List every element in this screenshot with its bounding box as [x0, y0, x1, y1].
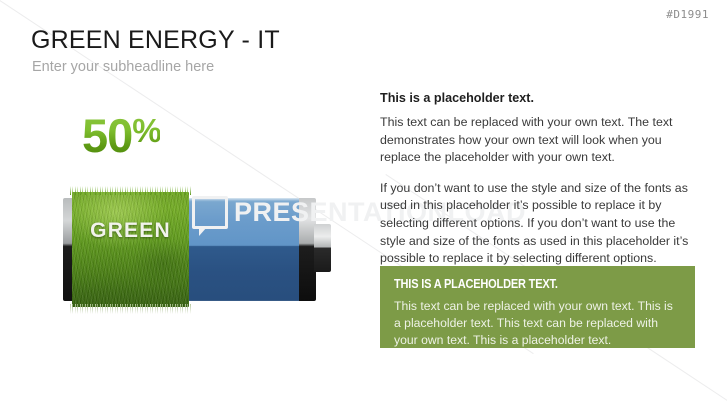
content-column: This is a placeholder text. This text ca… [380, 91, 695, 268]
battery-fill-label: GREEN [72, 219, 189, 243]
charge-percentage-label: 50% [82, 112, 160, 159]
document-id: #D1991 [666, 8, 709, 21]
page-title: GREEN ENERGY - IT [31, 26, 280, 55]
battery-graphic: GREEN [63, 192, 331, 307]
battery-terminal-nub [314, 224, 331, 272]
callout-body: This text can be replaced with your own … [394, 298, 681, 349]
page-subtitle: Enter your subheadline here [32, 59, 214, 75]
grass-blades-bottom [70, 304, 191, 314]
callout-heading: THIS IS A PLACEHOLDER TEXT. [394, 277, 647, 291]
percent-symbol: % [132, 112, 159, 149]
content-paragraph: If you don’t want to use the style and s… [380, 180, 695, 268]
content-heading: This is a placeholder text. [380, 91, 695, 105]
grass-blades-top [70, 186, 191, 195]
callout-box: THIS IS A PLACEHOLDER TEXT. This text ca… [380, 266, 695, 348]
slide-canvas: #D1991 GREEN ENERGY - IT Enter your subh… [0, 0, 727, 409]
charge-percentage-value: 50 [82, 109, 132, 162]
content-paragraph: This text can be replaced with your own … [380, 114, 695, 167]
battery-charge-fill-grass: GREEN [72, 192, 189, 307]
